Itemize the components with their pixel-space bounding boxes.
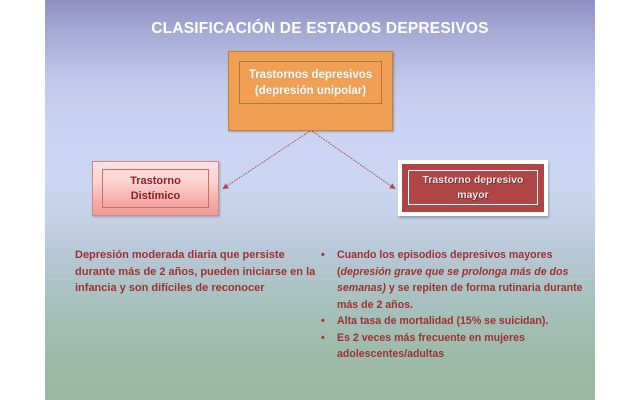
node-trastorno-depresivo-mayor-line1: Trastorno depresivo bbox=[423, 173, 524, 188]
node-trastornos-depresivos[interactable]: Trastornos depresivos (depresión unipola… bbox=[228, 51, 393, 131]
node-trastorno-distimico-inner: Trastorno Distímico bbox=[102, 169, 209, 208]
bullet-text-plain: Es 2 veces más frecuente en mujeres adol… bbox=[337, 332, 525, 361]
bullet-item: •Cuando los episodios depresivos mayores… bbox=[316, 247, 588, 313]
node-trastorno-distimico-line1: Trastorno bbox=[130, 174, 181, 189]
bullet-dot-icon: • bbox=[321, 330, 325, 347]
bullet-item-text: Cuando los episodios depresivos mayores … bbox=[337, 249, 583, 311]
connector-to-right-node bbox=[312, 131, 394, 188]
page-title: CLASIFICACIÓN DE ESTADOS DEPRESIVOS bbox=[45, 20, 595, 38]
left-description-text: Depresión moderada diaria que persiste d… bbox=[75, 247, 320, 297]
right-bullet-list: •Cuando los episodios depresivos mayores… bbox=[316, 247, 588, 363]
node-trastorno-depresivo-mayor-inner: Trastorno depresivo mayor bbox=[408, 170, 538, 205]
bullet-item-text: Alta tasa de mortalidad (15% se suicidan… bbox=[337, 315, 548, 327]
bullet-item: •Es 2 veces más frecuente en mujeres ado… bbox=[316, 330, 588, 363]
node-trastornos-depresivos-line2: (depresión unipolar) bbox=[255, 83, 366, 99]
node-trastorno-distimico[interactable]: Trastorno Distímico bbox=[92, 161, 219, 216]
bullet-item: •Alta tasa de mortalidad (15% se suicida… bbox=[316, 313, 588, 330]
node-trastorno-distimico-line2: Distímico bbox=[131, 189, 181, 204]
bullet-dot-icon: • bbox=[321, 313, 325, 330]
bullet-text-plain: Alta tasa de mortalidad (15% se suicidan… bbox=[337, 315, 548, 327]
connector-to-left-node bbox=[224, 131, 310, 188]
slide-canvas: CLASIFICACIÓN DE ESTADOS DEPRESIVOS Tras… bbox=[45, 0, 595, 400]
node-trastorno-depresivo-mayor-line2: mayor bbox=[457, 188, 489, 203]
bullet-item-text: Es 2 veces más frecuente en mujeres adol… bbox=[337, 332, 525, 361]
node-trastornos-depresivos-line1: Trastornos depresivos bbox=[249, 67, 372, 83]
node-trastornos-depresivos-inner: Trastornos depresivos (depresión unipola… bbox=[239, 61, 382, 104]
node-trastorno-depresivo-mayor[interactable]: Trastorno depresivo mayor bbox=[398, 160, 548, 216]
bullet-dot-icon: • bbox=[321, 247, 325, 264]
